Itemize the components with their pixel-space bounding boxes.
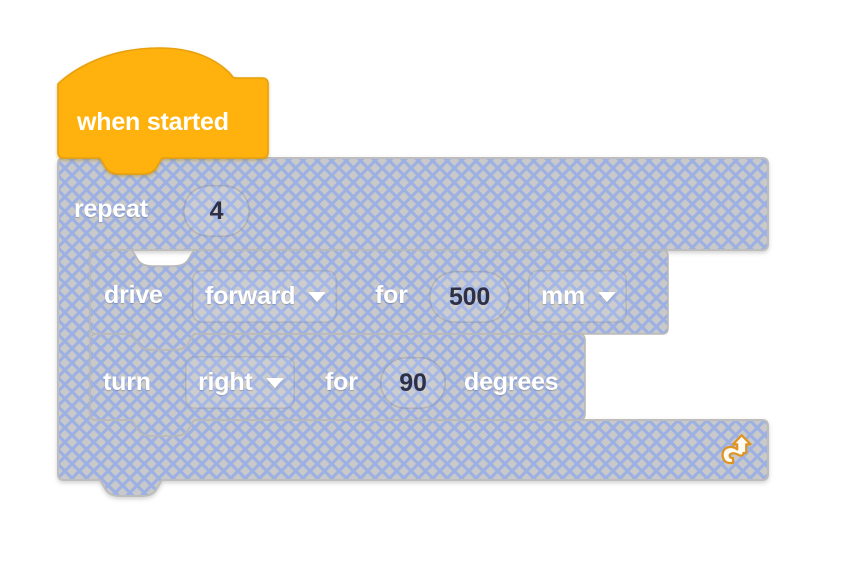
repeat-keyword-label: repeat — [74, 197, 148, 222]
drive-unit-value: mm — [541, 284, 585, 309]
turn-for-keyword-label: for — [325, 370, 358, 395]
chevron-down-icon — [598, 292, 616, 302]
repeat-count-input[interactable]: 4 — [183, 185, 250, 237]
drive-direction-dropdown[interactable]: forward — [192, 270, 337, 323]
degrees-unit-label: degrees — [464, 370, 559, 395]
drive-keyword-label: drive — [104, 283, 163, 308]
drive-unit-dropdown[interactable]: mm — [528, 270, 627, 323]
chevron-down-icon — [308, 292, 326, 302]
loop-arrow-icon — [721, 433, 755, 467]
drive-direction-value: forward — [205, 284, 295, 309]
block-workspace[interactable]: when started repeat 4 drive forward for … — [0, 0, 866, 572]
turn-direction-dropdown[interactable]: right — [185, 356, 295, 409]
drive-distance-input[interactable]: 500 — [429, 271, 510, 323]
when-started-label: when started — [77, 110, 229, 135]
chevron-down-icon — [266, 378, 284, 388]
turn-angle-input[interactable]: 90 — [380, 357, 446, 409]
turn-direction-value: right — [198, 370, 253, 395]
turn-keyword-label: turn — [103, 370, 151, 395]
block-text-overlay: when started repeat 4 drive forward for … — [0, 0, 866, 572]
drive-for-keyword-label: for — [375, 283, 408, 308]
